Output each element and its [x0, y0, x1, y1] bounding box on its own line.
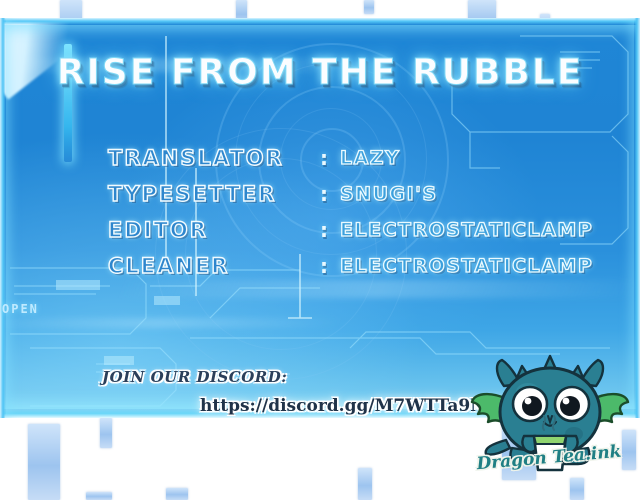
credit-value: LAZY [340, 147, 400, 169]
decorative-bar [364, 0, 374, 14]
decorative-bar [166, 488, 188, 500]
credit-separator: : [308, 146, 340, 170]
credit-row: TRANSLATOR:LAZY [108, 140, 628, 176]
credits-list: TRANSLATOR:LAZYTYPESETTER:SNUGI'SEDITOR:… [108, 140, 628, 284]
credit-value: ELECTROSTATICLAMP [340, 255, 593, 277]
credit-separator: : [308, 182, 340, 206]
dragon-tea-ink-logo [466, 348, 634, 496]
credit-value: ELECTROSTATICLAMP [340, 219, 593, 241]
credit-role: CLEANER [108, 254, 308, 278]
credit-role: EDITOR [108, 218, 308, 242]
discord-label: JOIN OUR DISCORD: [102, 368, 287, 386]
decorative-bar [100, 418, 112, 448]
credit-separator: : [308, 254, 340, 278]
sheen-3 [0, 318, 342, 328]
decorative-bar [358, 468, 372, 500]
decorative-bar [86, 492, 112, 500]
credits-page: OPEN RISE FROM THE RUBBLE TRANSLATOR:LAZ… [0, 0, 640, 500]
decorative-bar [28, 424, 60, 500]
panel-edge-top [0, 18, 640, 25]
hud-open-label: OPEN [2, 302, 39, 316]
credit-row: CLEANER:ELECTROSTATICLAMP [108, 248, 628, 284]
credit-row: EDITOR:ELECTROSTATICLAMP [108, 212, 628, 248]
credit-separator: : [308, 218, 340, 242]
credit-row: TYPESETTER:SNUGI'S [108, 176, 628, 212]
credit-value: SNUGI'S [340, 183, 438, 205]
page-title: RISE FROM THE RUBBLE [0, 52, 640, 93]
credit-role: TYPESETTER [108, 182, 308, 206]
credit-role: TRANSLATOR [108, 146, 308, 170]
